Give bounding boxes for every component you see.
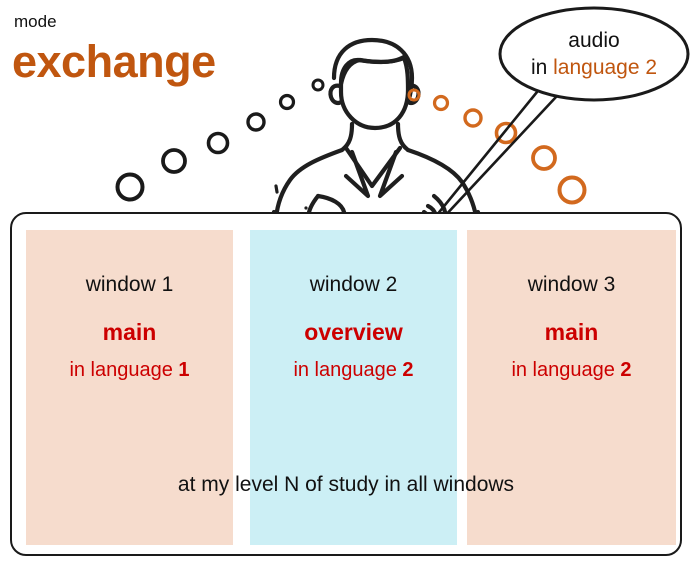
window-panel-1[interactable]: window 1 main in language 1 bbox=[26, 230, 233, 545]
window-panel-1-kind: main bbox=[26, 318, 233, 346]
window-panel-2-kind: overview bbox=[250, 318, 457, 346]
right-circle-2 bbox=[435, 97, 448, 110]
person-stray-mark bbox=[276, 186, 277, 192]
speech-bubble-line-2: in language 2 bbox=[500, 55, 688, 80]
window-panel-3-language: in language 2 bbox=[467, 358, 676, 382]
right-circle-5 bbox=[533, 147, 555, 169]
window-panel-2-language-prefix: in language bbox=[293, 359, 402, 381]
left-circle-6 bbox=[118, 175, 143, 200]
speech-bubble-line-1: audio bbox=[500, 28, 688, 53]
left-circle-5 bbox=[163, 150, 185, 172]
mode-name: exchange bbox=[12, 36, 216, 88]
window-panel-1-language-number: 1 bbox=[178, 359, 189, 381]
speech-bubble-line-2-prefix: in bbox=[531, 56, 553, 79]
right-circle-3 bbox=[465, 110, 481, 126]
window-panel-1-title: window 1 bbox=[26, 272, 233, 297]
windows-box-footnote: at my level N of study in all windows bbox=[12, 472, 680, 497]
windows-box: window 1 main in language 1 window 2 ove… bbox=[10, 212, 682, 556]
speech-bubble-ellipse bbox=[500, 8, 688, 100]
right-circle-4 bbox=[497, 124, 516, 143]
right-circle-1 bbox=[409, 90, 419, 100]
left-circles-group bbox=[118, 80, 324, 200]
window-panel-2[interactable]: window 2 overview in language 2 bbox=[250, 230, 457, 545]
window-panel-3-language-prefix: in language bbox=[511, 359, 620, 381]
window-panel-3-title: window 3 bbox=[467, 272, 676, 297]
mode-label: mode bbox=[14, 12, 57, 32]
window-panel-2-title: window 2 bbox=[250, 272, 457, 297]
person-dot-mark bbox=[304, 206, 307, 209]
window-panel-1-language-prefix: in language bbox=[69, 359, 178, 381]
right-circles-group bbox=[409, 90, 585, 203]
window-panel-3-kind: main bbox=[467, 318, 676, 346]
right-circle-6 bbox=[560, 178, 585, 203]
window-panel-1-language: in language 1 bbox=[26, 358, 233, 382]
window-panel-2-language-number: 2 bbox=[402, 359, 413, 381]
speech-bubble-line-2-accent: language 2 bbox=[553, 56, 657, 79]
window-panel-3[interactable]: window 3 main in language 2 bbox=[467, 230, 676, 545]
left-circle-2 bbox=[281, 96, 294, 109]
person-figure bbox=[274, 40, 478, 240]
diagram-canvas: mode exchange bbox=[0, 0, 694, 564]
left-circle-4 bbox=[209, 134, 228, 153]
window-panel-3-language-number: 2 bbox=[620, 359, 631, 381]
left-circle-1 bbox=[313, 80, 323, 90]
window-panel-2-language: in language 2 bbox=[250, 358, 457, 382]
left-circle-3 bbox=[248, 114, 264, 130]
